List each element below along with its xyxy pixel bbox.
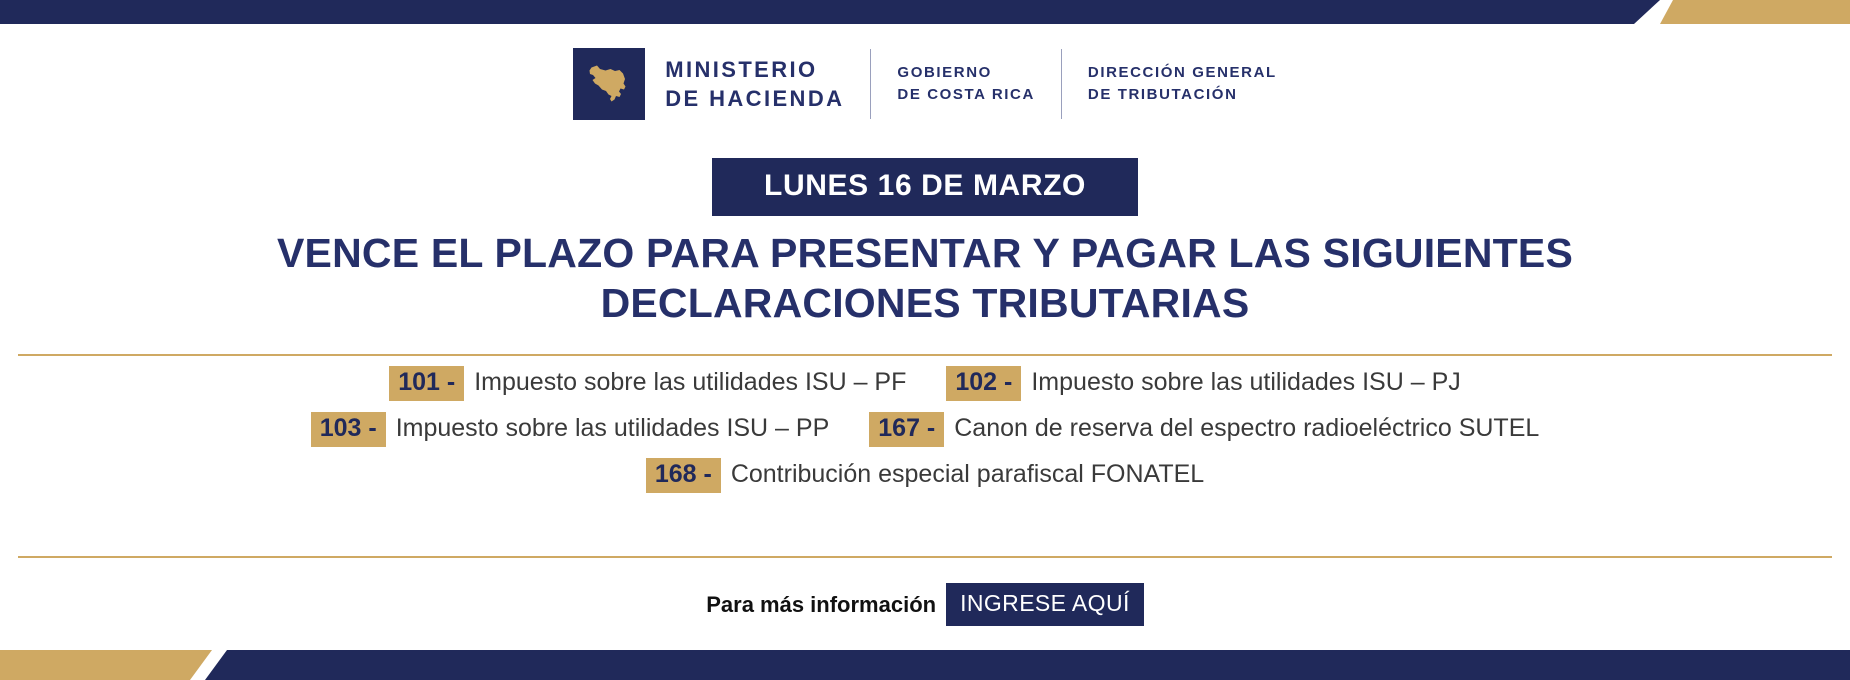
- ministry-logo-mark: [573, 48, 645, 120]
- page-title: VENCE EL PLAZO PARA PRESENTAR Y PAGAR LA…: [0, 228, 1850, 329]
- divider-top: [18, 354, 1832, 356]
- directorate-name-line1: DIRECCIÓN GENERAL: [1088, 62, 1277, 84]
- list-item: 168 - Contribución especial parafiscal F…: [646, 458, 1204, 493]
- list-item-label: Impuesto sobre las utilidades ISU – PF: [474, 370, 906, 395]
- ingrese-aqui-button[interactable]: INGRESE AQUÍ: [946, 583, 1144, 626]
- status-badge: 103 -: [311, 412, 386, 447]
- list-item: 102 - Impuesto sobre las utilidades ISU …: [946, 366, 1460, 401]
- costa-rica-map-icon: [583, 58, 635, 110]
- decorative-top-bar: [0, 0, 1850, 24]
- status-badge: 102 -: [946, 366, 1021, 401]
- top-bar-gold-segment: [1660, 0, 1850, 24]
- list-item: 103 - Impuesto sobre las utilidades ISU …: [311, 412, 830, 447]
- divider-bottom: [18, 556, 1832, 558]
- status-badge: 168 -: [646, 458, 721, 493]
- date-banner: LUNES 16 DE MARZO: [712, 158, 1138, 216]
- directorate-name-line2: DE TRIBUTACIÓN: [1088, 84, 1277, 106]
- list-item-label: Impuesto sobre las utilidades ISU – PJ: [1031, 370, 1460, 395]
- ministry-name: MINISTERIO DE HACIENDA: [665, 55, 844, 114]
- bottom-bar-gold-segment: [0, 650, 212, 680]
- directorate-name: DIRECCIÓN GENERAL DE TRIBUTACIÓN: [1088, 62, 1277, 106]
- page-title-line1: VENCE EL PLAZO PARA PRESENTAR Y PAGAR LA…: [0, 228, 1850, 278]
- cta-section: Para más información INGRESE AQUÍ: [0, 583, 1850, 626]
- declaration-row: 103 - Impuesto sobre las utilidades ISU …: [0, 412, 1850, 447]
- cta-label: Para más información: [706, 592, 936, 618]
- decorative-bottom-bar: [0, 650, 1850, 680]
- list-item-label: Canon de reserva del espectro radioeléct…: [954, 416, 1539, 441]
- declaration-list: 101 - Impuesto sobre las utilidades ISU …: [0, 366, 1850, 504]
- status-badge: 101 -: [389, 366, 464, 401]
- date-banner-wrapper: LUNES 16 DE MARZO: [0, 158, 1850, 216]
- declaration-row: 168 - Contribución especial parafiscal F…: [0, 458, 1850, 493]
- top-bar-navy-segment: [0, 0, 1660, 24]
- ministry-name-line1: MINISTERIO: [665, 55, 844, 84]
- logo-divider-1: [870, 49, 871, 119]
- list-item-label: Impuesto sobre las utilidades ISU – PP: [396, 416, 830, 441]
- government-name-line1: GOBIERNO: [897, 62, 1034, 84]
- declaration-row: 101 - Impuesto sobre las utilidades ISU …: [0, 366, 1850, 401]
- logo-lockup: MINISTERIO DE HACIENDA GOBIERNO DE COSTA…: [0, 48, 1850, 120]
- government-name: GOBIERNO DE COSTA RICA: [897, 62, 1034, 106]
- bottom-bar-navy-segment: [205, 650, 1850, 680]
- government-name-line2: DE COSTA RICA: [897, 84, 1034, 106]
- list-item: 101 - Impuesto sobre las utilidades ISU …: [389, 366, 906, 401]
- logo-divider-2: [1061, 49, 1062, 119]
- status-badge: 167 -: [869, 412, 944, 447]
- ministry-name-line2: DE HACIENDA: [665, 84, 844, 113]
- list-item-label: Contribución especial parafiscal FONATEL: [731, 462, 1204, 487]
- list-item: 167 - Canon de reserva del espectro radi…: [869, 412, 1539, 447]
- page-title-line2: DECLARACIONES TRIBUTARIAS: [0, 278, 1850, 328]
